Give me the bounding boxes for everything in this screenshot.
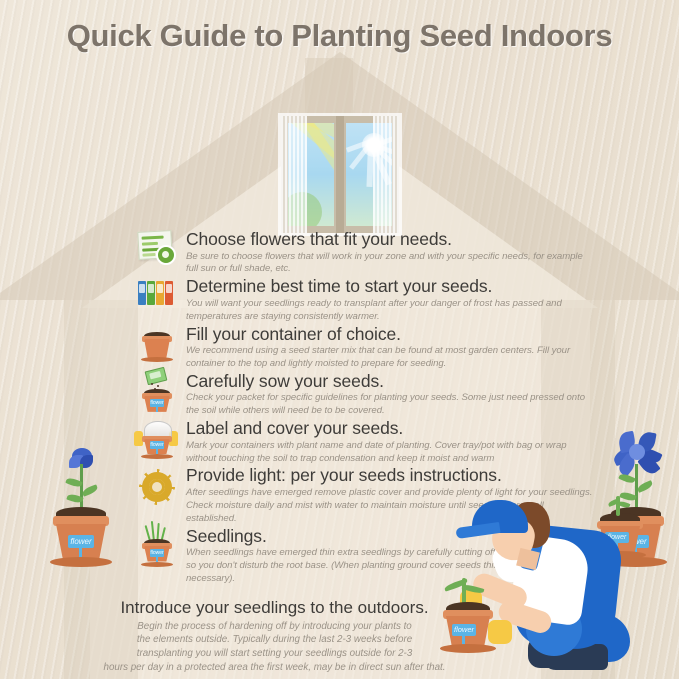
step-item: flower Label and cover your seeds. Mark …	[134, 419, 594, 465]
step-heading: Choose flowers that fit your needs.	[186, 230, 594, 250]
footer-line: Begin the process of hardening off by in…	[20, 620, 529, 634]
sun-light-icon	[134, 464, 180, 508]
page-title: Quick Guide to Planting Seed Indoors	[0, 18, 679, 54]
window-curtain-left	[281, 116, 307, 233]
window-curtain-right	[373, 116, 399, 233]
step-body: You will want your seedlings ready to tr…	[186, 298, 594, 324]
step-item: Fill your container of choice. We recomm…	[134, 325, 594, 371]
footer-section: Introduce your seedlings to the outdoors…	[0, 598, 679, 675]
step-item: Choose flowers that fit your needs. Be s…	[134, 230, 594, 276]
step-body: Be sure to choose flowers that will work…	[186, 251, 594, 277]
footer-line: hours per day in a protected area the fi…	[20, 661, 529, 675]
seedlings-pot-icon: flower	[134, 525, 180, 569]
step-heading: Carefully sow your seeds.	[186, 372, 594, 392]
gloves-covering-pot-icon: flower	[134, 417, 180, 461]
flower-pot-icon	[134, 323, 180, 367]
footer-heading: Introduce your seedlings to the outdoors…	[20, 598, 529, 618]
infographic-poster: Quick Guide to Planting Seed Indoors	[0, 0, 679, 679]
footer-body: Begin the process of hardening off by in…	[20, 620, 529, 676]
step-heading: Fill your container of choice.	[186, 325, 594, 345]
step-body: Check your packet for specific guideline…	[186, 392, 594, 418]
window-mullion	[336, 116, 344, 233]
step-item: flower Carefully sow your seeds. Check y…	[134, 372, 594, 418]
seed-catalog-icon	[134, 228, 180, 272]
seed-packets-icon	[134, 275, 180, 319]
potted-blue-flower-icon: flower	[42, 418, 122, 568]
footer-line: transplanting you will start setting you…	[20, 647, 529, 661]
step-body: Mark your containers with plant name and…	[186, 440, 594, 466]
plant-tag-label: flower	[68, 535, 94, 548]
window-with-sun-icon	[281, 116, 399, 233]
step-heading: Provide light: per your seeds instructio…	[186, 466, 594, 486]
step-heading: Label and cover your seeds.	[186, 419, 594, 439]
sowing-seeds-icon: flower	[134, 370, 180, 414]
step-item: Determine best time to start your seeds.…	[134, 277, 594, 323]
step-body: We recommend using a seed starter mix th…	[186, 345, 594, 371]
footer-line: the elements outside. Typically during t…	[20, 633, 529, 647]
step-heading: Determine best time to start your seeds.	[186, 277, 594, 297]
